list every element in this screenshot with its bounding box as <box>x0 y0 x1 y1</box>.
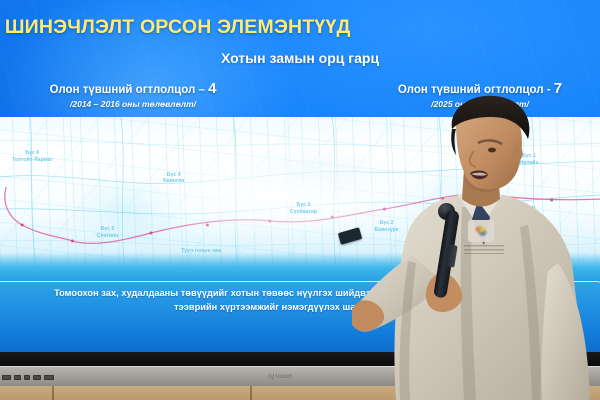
port[interactable] <box>2 375 11 380</box>
slide-subtitle: Хотын замын орц гарц <box>0 50 600 66</box>
port[interactable] <box>24 375 30 380</box>
presenter <box>352 95 600 400</box>
chest-text-patch <box>464 245 504 254</box>
port[interactable] <box>14 375 21 380</box>
map-label: Бүс 5Сонгино <box>97 226 119 239</box>
map-label: Бүс 6Толгойт-Яармаг <box>12 150 52 163</box>
port[interactable] <box>44 375 54 380</box>
map-label: Бүс 4Баянгол <box>163 172 184 185</box>
caption-left: Олон түвшний огтлолцол – 4 /2014 – 2016 … <box>18 80 248 109</box>
screenshot-root: I. ШИНЭЧЛЭЛТ ОРСОН ЭЛЕМЭНТҮҮД Хотын замы… <box>0 0 600 400</box>
caption-left-text: Олон түвшний огтлолцол – <box>50 84 208 96</box>
caption-left-line1: Олон түвшний огтлолцол – 4 <box>18 80 248 97</box>
display-brand-logo: iQTouch <box>258 372 302 381</box>
slide-headline: I. ШИНЭЧЛЭЛТ ОРСОН ЭЛЕМЭНТҮҮД <box>0 16 408 39</box>
display-port-row[interactable] <box>2 374 56 381</box>
port[interactable] <box>33 375 41 380</box>
map-label: Бүс 3Сүхбаатар <box>290 202 317 215</box>
wood-seam <box>52 386 54 400</box>
caption-left-value: 4 <box>208 80 216 97</box>
caption-left-line2: /2014 – 2016 оны төлөвлөлт/ <box>18 99 248 109</box>
chest-emblem <box>468 220 494 242</box>
wood-seam <box>250 386 252 400</box>
